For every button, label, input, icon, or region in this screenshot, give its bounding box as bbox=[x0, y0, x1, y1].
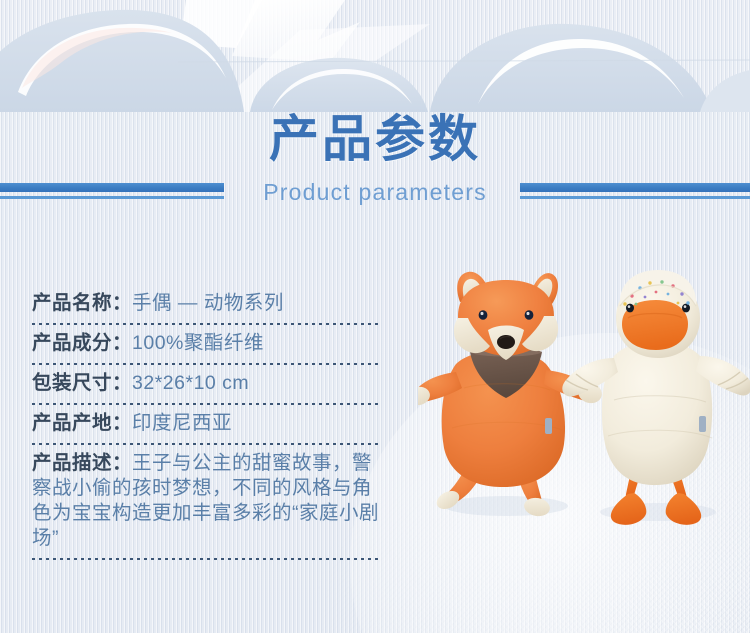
spec-label: 产品名称： bbox=[32, 292, 132, 314]
background-corner-glow bbox=[350, 333, 750, 633]
spec-value: 手偶 — 动物系列 bbox=[132, 292, 284, 314]
spec-row-product-name: 产品名称：手偶 — 动物系列 bbox=[32, 285, 380, 323]
spec-row-material: 产品成分：100%聚酯纤维 bbox=[32, 325, 380, 363]
product-parameters-page: 产品参数 Product parameters 产品名称：手偶 — 动物系列 产… bbox=[0, 0, 750, 633]
spec-label: 产品描述： bbox=[32, 452, 132, 474]
spec-label: 产品产地： bbox=[32, 412, 132, 434]
accent-bar-right-thick bbox=[520, 183, 750, 192]
spec-label: 产品成分： bbox=[32, 332, 132, 354]
goose-puppet-figure bbox=[562, 270, 750, 525]
page-title-block: 产品参数 Product parameters bbox=[0, 108, 750, 228]
spec-divider bbox=[32, 558, 380, 560]
spec-value: 32*26*10 cm bbox=[132, 372, 249, 394]
accent-bar-right bbox=[520, 183, 750, 199]
accent-bar-left-thick bbox=[0, 183, 224, 192]
page-title: 产品参数 bbox=[0, 108, 750, 170]
product-photo-hand-puppets bbox=[418, 268, 750, 528]
fox-puppet-figure bbox=[418, 272, 604, 518]
spec-label: 包装尺寸： bbox=[32, 372, 132, 394]
spec-line: 产品描述：王子与公主的甜蜜故事，警察战小偷的孩时梦想，不同的风格与角色为宝宝构造… bbox=[32, 451, 380, 551]
spec-line: 产品成分：100%聚酯纤维 bbox=[32, 331, 380, 356]
accent-bar-right-thin bbox=[520, 196, 750, 199]
specs-list: 产品名称：手偶 — 动物系列 产品成分：100%聚酯纤维 包装尺寸：32*26*… bbox=[32, 285, 380, 560]
spec-value: 印度尼西亚 bbox=[132, 412, 232, 434]
spec-value: 100%聚酯纤维 bbox=[132, 332, 264, 354]
spec-line: 产品名称：手偶 — 动物系列 bbox=[32, 291, 380, 316]
spec-line: 包装尺寸：32*26*10 cm bbox=[32, 371, 380, 396]
cloud-decoration bbox=[0, 0, 750, 112]
spec-line: 产品产地：印度尼西亚 bbox=[32, 411, 380, 436]
accent-bar-left-thin bbox=[0, 196, 224, 199]
accent-bar-left bbox=[0, 183, 224, 199]
spec-row-package-size: 包装尺寸：32*26*10 cm bbox=[32, 365, 380, 403]
spec-row-origin: 产品产地：印度尼西亚 bbox=[32, 405, 380, 443]
spec-row-description: 产品描述：王子与公主的甜蜜故事，警察战小偷的孩时梦想，不同的风格与角色为宝宝构造… bbox=[32, 445, 380, 558]
